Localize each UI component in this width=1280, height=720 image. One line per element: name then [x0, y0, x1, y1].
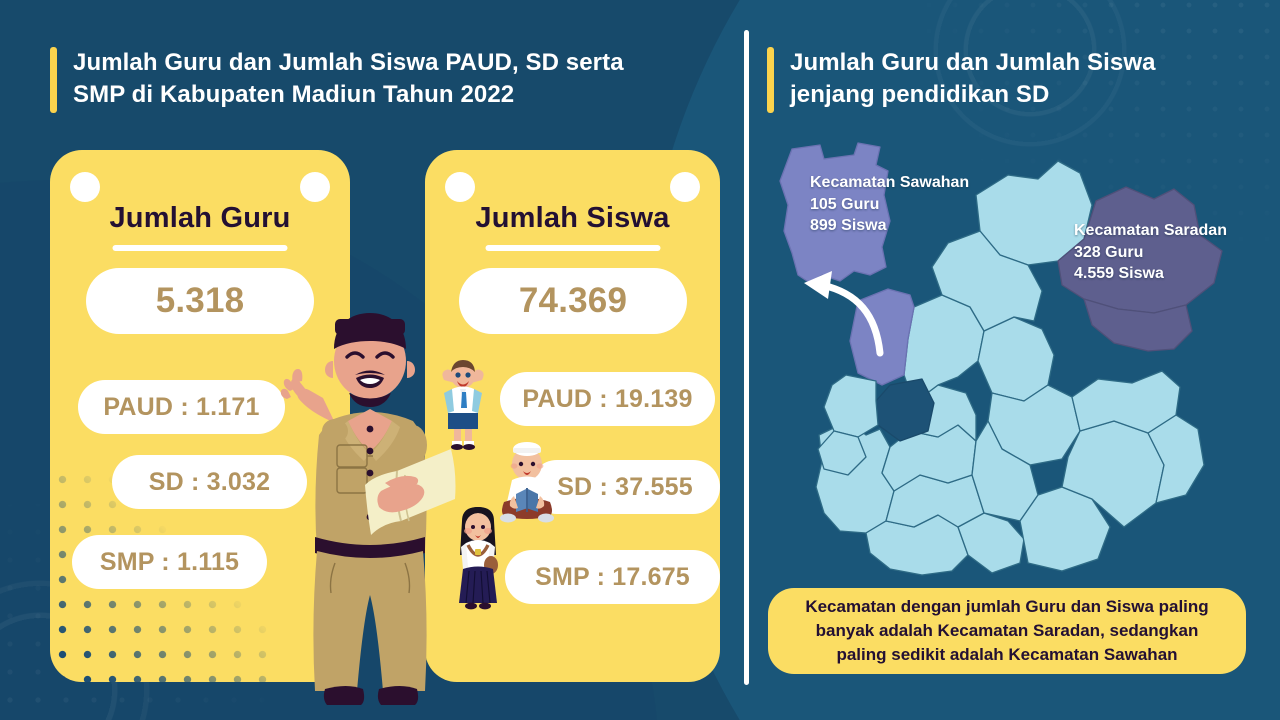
card-siswa-row-paud: PAUD : 19.139: [500, 372, 715, 426]
map-label-sawahan: Kecamatan Sawahan 105 Guru 899 Siswa: [810, 172, 969, 237]
card-hole-right: [300, 172, 330, 202]
left-title-text: Jumlah Guru dan Jumlah Siswa PAUD, SD se…: [73, 47, 624, 111]
student-cheering-illustration: [432, 358, 494, 450]
panel-divider: [744, 30, 749, 685]
card-siswa-rule: [485, 245, 660, 251]
right-panel-title: Jumlah Guru dan Jumlah Siswa jenjang pen…: [767, 47, 1237, 113]
infographic-canvas: Jumlah Guru dan Jumlah Siswa PAUD, SD se…: [0, 0, 1280, 720]
map-caption-box: Kecamatan dengan jumlah Guru dan Siswa p…: [768, 588, 1246, 674]
card-siswa-row-smp: SMP : 17.675: [505, 550, 720, 604]
card-guru-heading: Jumlah Guru: [50, 202, 350, 235]
right-title-text: Jumlah Guru dan Jumlah Siswa jenjang pen…: [790, 47, 1156, 111]
left-panel-title: Jumlah Guru dan Jumlah Siswa PAUD, SD se…: [50, 47, 710, 113]
map-light-patch-west: [824, 375, 878, 437]
map-caption-text: Kecamatan dengan jumlah Guru dan Siswa p…: [805, 595, 1208, 667]
map-dark-patch-west: [876, 379, 934, 441]
card-siswa-heading: Jumlah Siswa: [425, 202, 720, 235]
card-guru-row-smp: SMP : 1.115: [72, 535, 267, 589]
student-girl-illustration: [448, 505, 508, 615]
card-hole-right: [670, 172, 700, 202]
map-label-saradan: Kecamatan Saradan 328 Guru 4.559 Siswa: [1074, 220, 1227, 285]
title-accent-bar-left: [50, 47, 57, 113]
card-guru-row-paud: PAUD : 1.171: [78, 380, 285, 434]
card-hole-left: [70, 172, 100, 202]
card-siswa-total: 74.369: [459, 268, 687, 334]
card-hole-left: [445, 172, 475, 202]
card-guru-rule: [113, 245, 288, 251]
title-accent-bar-right: [767, 47, 774, 113]
